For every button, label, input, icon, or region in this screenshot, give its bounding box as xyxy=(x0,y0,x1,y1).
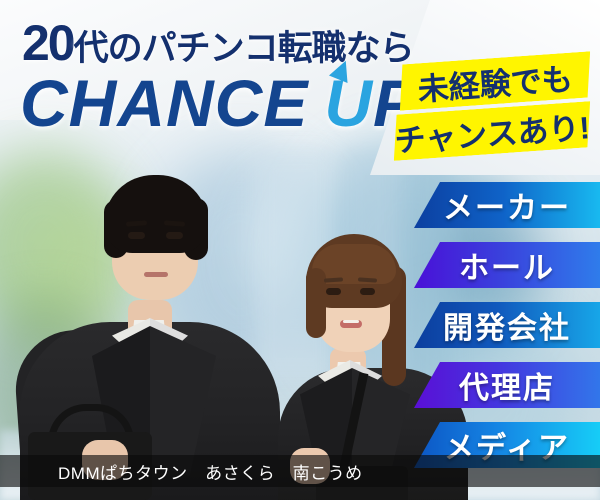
headline-middle: 代のパチンコ転職 xyxy=(74,29,346,68)
headline-number: 20 xyxy=(22,15,74,71)
category-label: 代理店 xyxy=(459,363,555,407)
category-label: メーカー xyxy=(443,183,571,227)
headline-text: 20代のパチンコ転職なら xyxy=(22,18,414,68)
category-badge-agency[interactable]: 代理店 xyxy=(414,362,600,408)
category-label: 開発会社 xyxy=(443,303,571,347)
credit-text: DMMぱちタウン あさくら 南こうめ xyxy=(58,459,363,484)
category-badge-hall[interactable]: ホール xyxy=(414,242,600,288)
category-label: ホール xyxy=(459,243,555,287)
headline-tail: なら xyxy=(346,29,414,68)
ad-banner[interactable]: 20代のパチンコ転職なら CHANCE UP 未経験でも チャンスあり! メーカ… xyxy=(0,0,600,500)
category-badge-maker[interactable]: メーカー xyxy=(414,182,600,228)
credit-bar: DMMぱちタウン あさくら 南こうめ xyxy=(0,455,600,487)
logo-word-chance: CHANCE xyxy=(20,70,308,136)
category-badge-developer[interactable]: 開発会社 xyxy=(414,302,600,348)
category-badge-list: メーカー ホール 開発会社 代理店 メディア xyxy=(0,182,600,482)
chance-up-logo: CHANCE UP xyxy=(20,70,418,136)
